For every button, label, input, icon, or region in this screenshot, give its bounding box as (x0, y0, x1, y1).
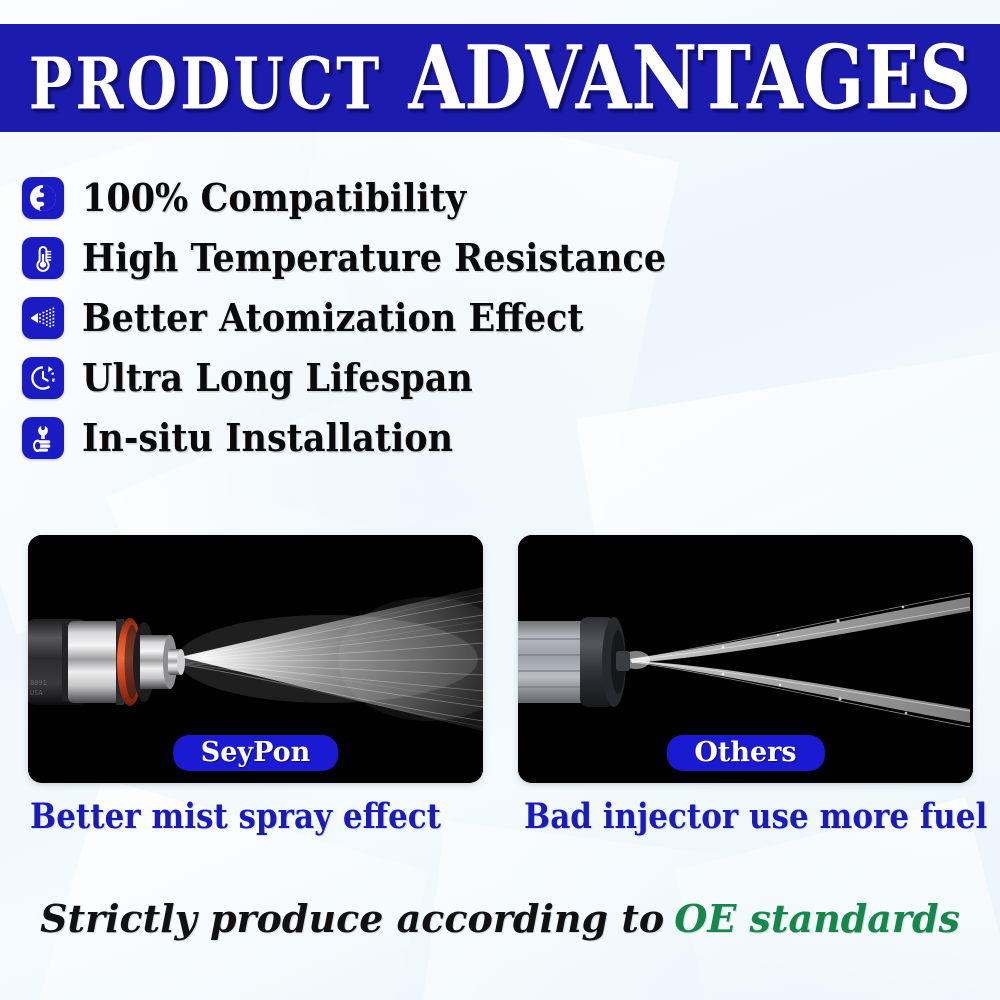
title-word-product: PRODUCT (29, 43, 383, 126)
spray-cone-icon (22, 297, 64, 339)
feature-label: In-situ Installation (82, 419, 453, 458)
svg-text:USA: USA (30, 689, 43, 697)
thermometer-icon (22, 237, 64, 279)
feature-item-installation: In-situ Installation (22, 408, 782, 468)
clock-refresh-icon (22, 357, 64, 399)
feature-item-atomization: Better Atomization Effect (22, 288, 782, 348)
feature-item-lifespan: Ultra Long Lifespan (22, 348, 782, 408)
badge-others: Others (666, 735, 824, 771)
feature-label: 100% Compatibility (82, 179, 466, 218)
footer-tagline: Strictly produce according toOE standard… (0, 900, 1000, 938)
badge-seypon: SeyPon (173, 735, 339, 771)
svg-text:8091: 8091 (30, 679, 47, 687)
caption-others: Bad injector use more fuel (524, 800, 987, 835)
feature-list: 100% Compatibility High Temperature Resi… (22, 168, 782, 468)
hand-wrench-icon (22, 417, 64, 459)
page-title: PRODUCTADVANTAGES (29, 34, 971, 122)
feature-item-compatibility: 100% Compatibility (22, 168, 782, 228)
feature-label: Better Atomization Effect (82, 299, 584, 338)
tagline-text: Strictly produce according to (40, 896, 664, 941)
title-word-advantages: ADVANTAGES (408, 26, 971, 130)
puzzle-piece-icon (22, 177, 64, 219)
caption-seypon: Better mist spray effect (30, 800, 441, 835)
feature-item-temperature: High Temperature Resistance (22, 228, 782, 288)
product-advantages-infographic: PRODUCTADVANTAGES 100% Compatibility (0, 0, 1000, 1000)
comparison-panel-seypon: 8091 USA SeyPon (28, 535, 483, 783)
header-banner: PRODUCTADVANTAGES (0, 24, 1000, 132)
injector-body-generic (518, 617, 630, 707)
feature-label: Ultra Long Lifespan (82, 359, 473, 398)
feature-label: High Temperature Resistance (82, 239, 666, 278)
tagline-highlight: OE standards (674, 896, 960, 941)
comparison-panel-others: Others (518, 535, 973, 783)
